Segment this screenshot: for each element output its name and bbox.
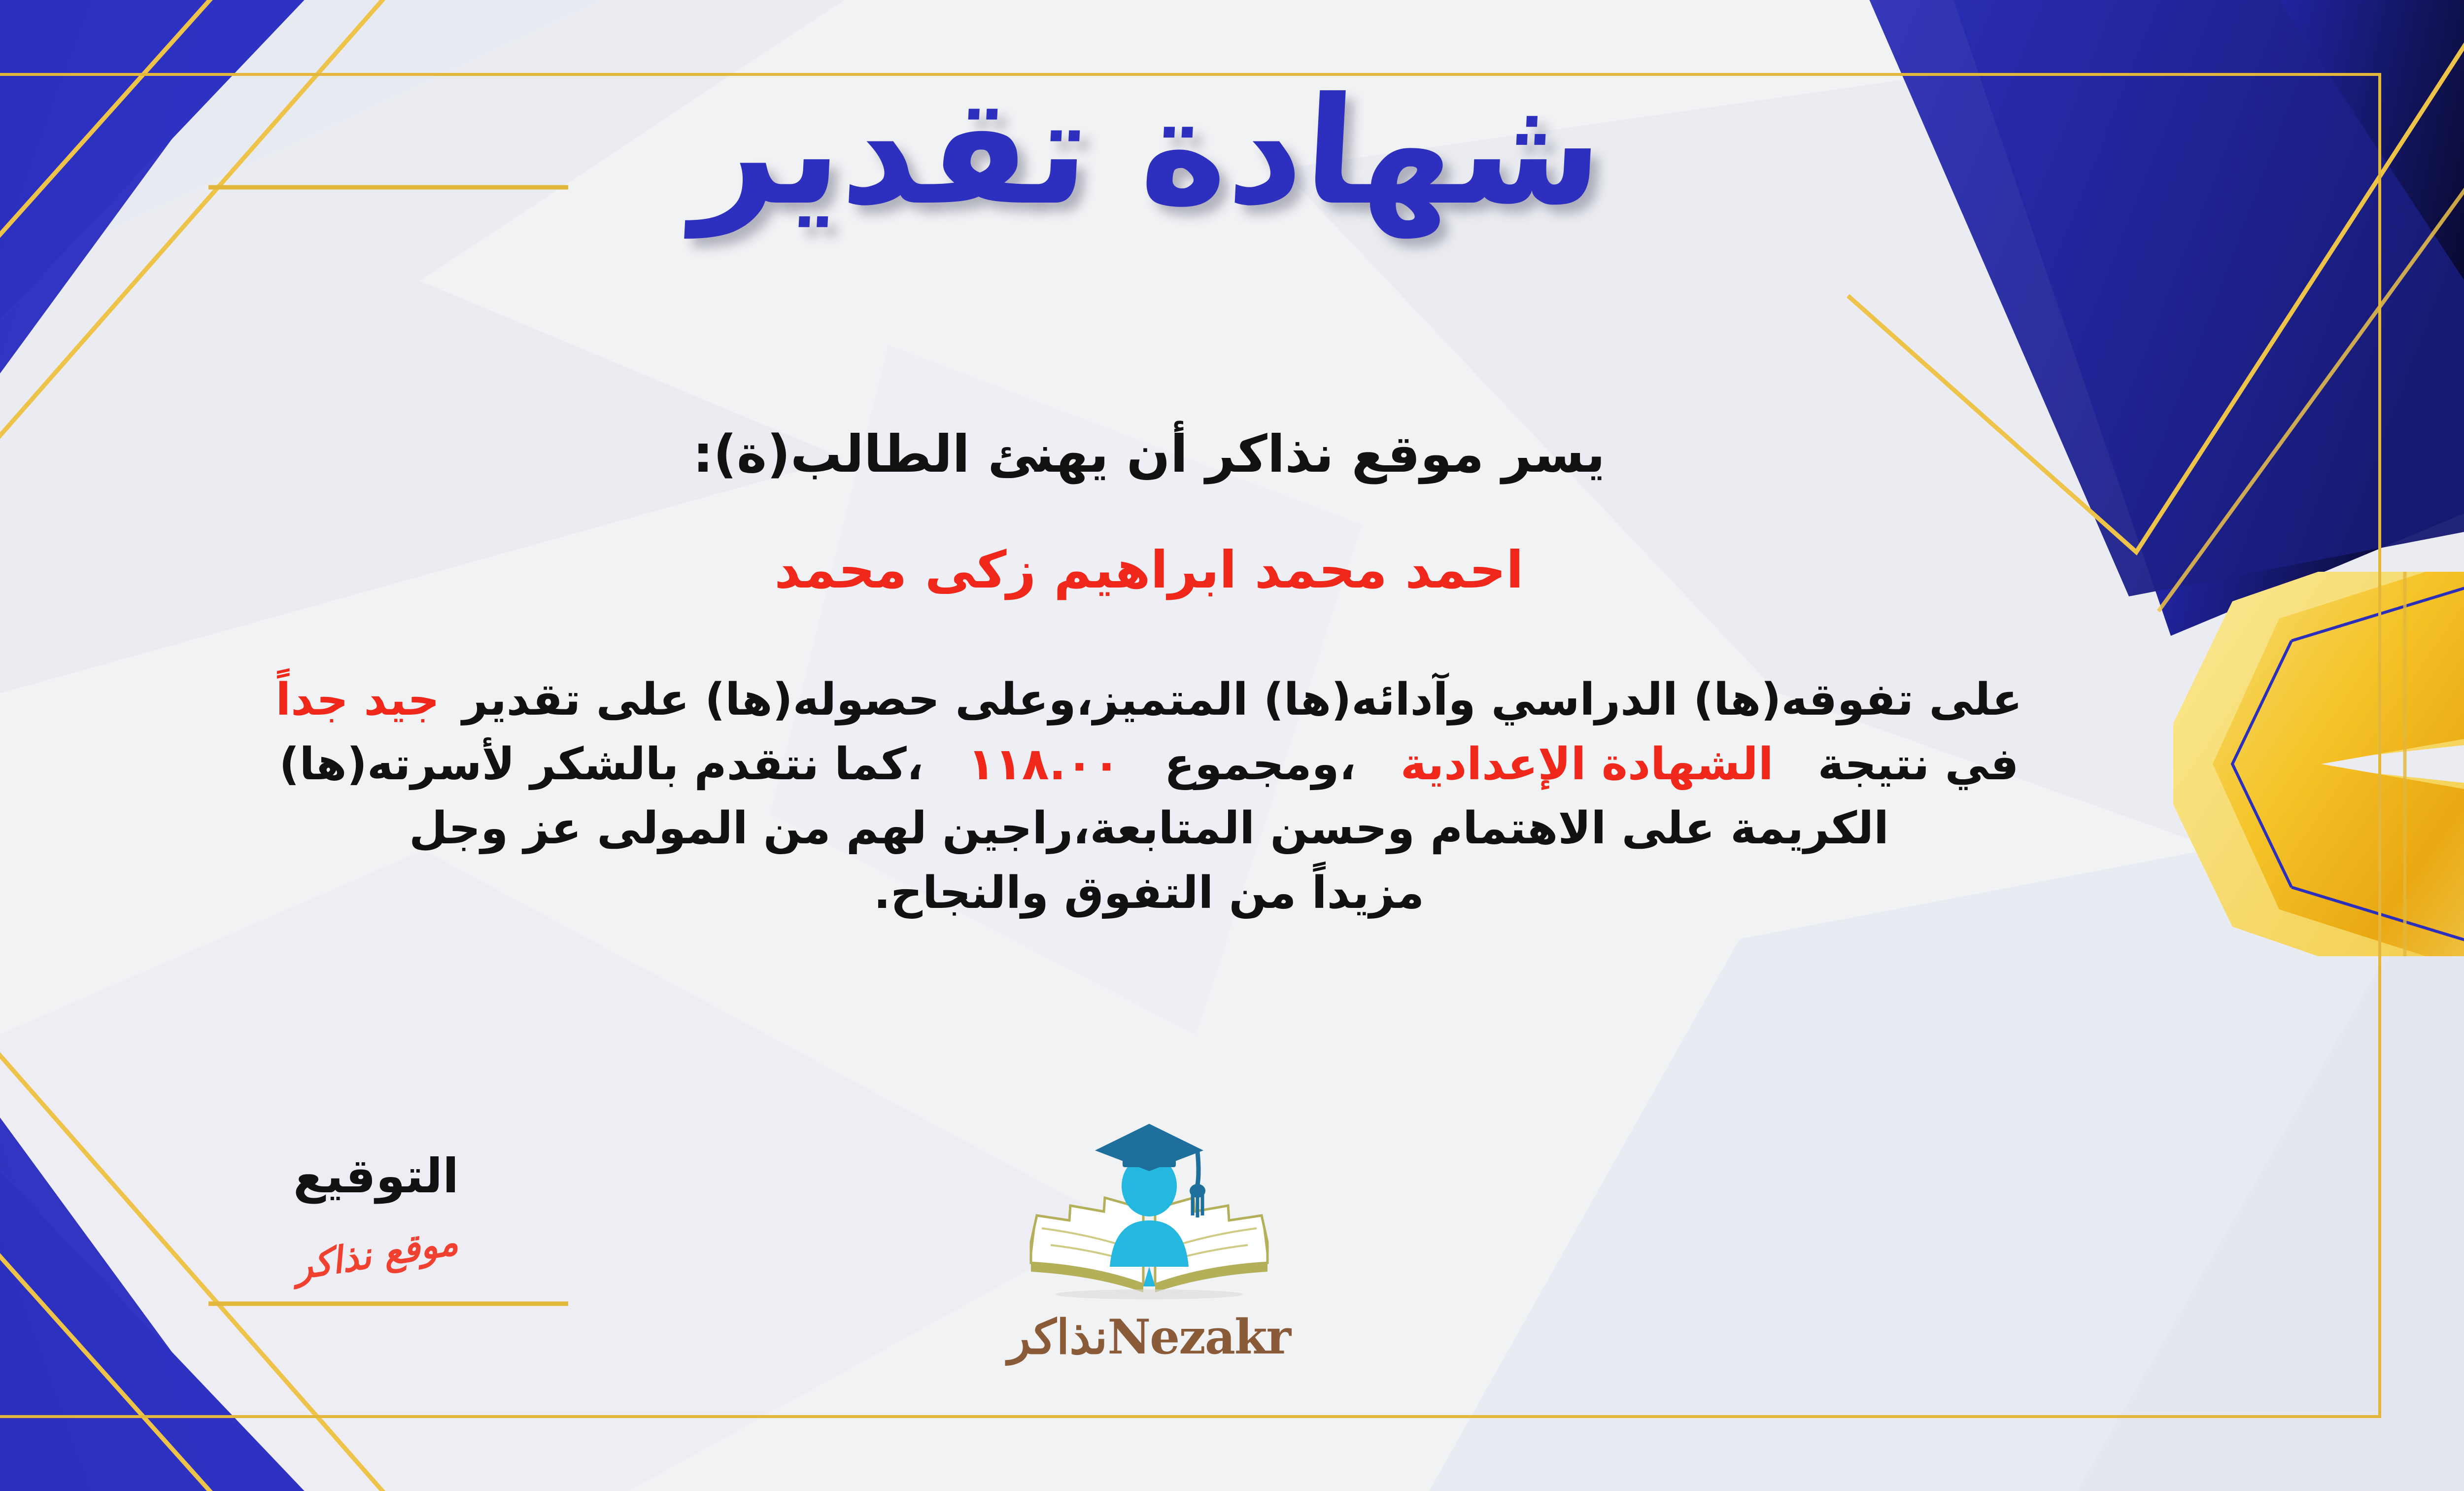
page-title: شهادة تقدير: [691, 74, 1607, 229]
body-line-5: الكريمة على الاهتمام وحسن المتابعة،راجين…: [0, 797, 2301, 861]
body-line-4-mid: ،ومجموع: [1164, 738, 1356, 790]
body-line-6: مزيداً من التفوق والنجاح.: [0, 861, 2301, 926]
logo-name-en: Nezakr: [1107, 1309, 1290, 1365]
body-line-3-text: على تفوقه(ها) الدراسي وآدائه(ها) المتميز…: [462, 674, 2022, 726]
site-logo: Nezakrنذاكر: [957, 1119, 1341, 1365]
exam-name: الشهادة الإعدادية: [1401, 738, 1774, 790]
logo-wordmark: Nezakrنذاكر: [957, 1309, 1341, 1365]
body-line-4-suffix: ،كما نتقدم بالشكر لأسرته(ها): [279, 738, 924, 790]
body-paragraph: على تفوقه(ها) الدراسي وآدائه(ها) المتميز…: [0, 668, 2301, 925]
signature-label: التوقيع: [223, 1148, 529, 1204]
total-score: ١١٨.٠٠: [968, 738, 1120, 790]
body-line-4-prefix: في نتيجة: [1818, 738, 2019, 790]
signature-block: التوقيع موقع نذاكر: [223, 1148, 529, 1276]
body-line-3: على تفوقه(ها) الدراسي وآدائه(ها) المتميز…: [0, 668, 2301, 732]
graduate-open-book-icon: [1011, 1119, 1287, 1316]
certificate-canvas: شهادة تقدير يسر موقع نذاكر أن يهنئ الطال…: [0, 0, 2464, 1491]
greeting-text: يسر موقع نذاكر أن يهنئ الطالب(ة):: [0, 424, 2464, 484]
logo-name-ar: نذاكر: [1008, 1309, 1107, 1365]
grade-value: جيد جداً: [275, 674, 440, 726]
body-line-4: في نتيجةالشهادة الإعدادية،ومجموع١١٨.٠٠،ك…: [0, 732, 2301, 797]
certificate-title-wrapper: شهادة تقدير: [0, 74, 2464, 229]
certificate-content: شهادة تقدير يسر موقع نذاكر أن يهنئ الطال…: [0, 0, 2464, 1491]
signature-script: موقع نذاكر: [291, 1220, 461, 1288]
student-name: احمد محمد ابراهيم زكى محمد: [0, 540, 2464, 600]
